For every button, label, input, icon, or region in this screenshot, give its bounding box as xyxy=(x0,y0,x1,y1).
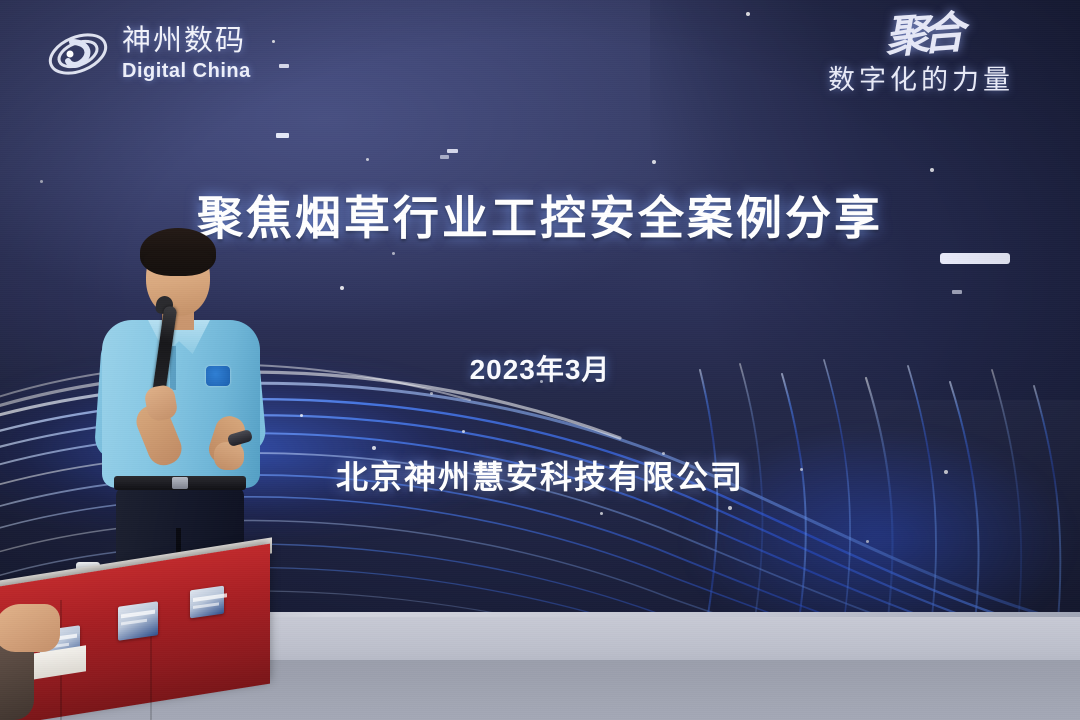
event-logo: 聚合 数字化的力量 xyxy=(786,16,1056,97)
event-tagline: 数字化的力量 xyxy=(786,58,1056,97)
particle-dot xyxy=(392,252,395,255)
particle-dot xyxy=(652,160,656,164)
particle-dot xyxy=(728,506,732,510)
particle-dot xyxy=(600,512,603,515)
particle-dot xyxy=(430,392,433,395)
digital-china-swirl-icon xyxy=(46,24,110,84)
particle-dot xyxy=(462,430,465,433)
particle-dash xyxy=(279,64,289,68)
particle-dash xyxy=(276,133,289,138)
photo-stage: 神州数码 Digital China 聚合 数字化的力量 聚焦烟草行业工控安全案… xyxy=(0,0,1080,720)
particle-dot xyxy=(746,12,750,16)
speaker-right-hand xyxy=(214,442,244,470)
particle-dot xyxy=(866,540,869,543)
particle-dash xyxy=(447,149,458,153)
speaker-hair xyxy=(140,228,216,276)
digital-china-name-en: Digital China xyxy=(122,61,251,81)
particle-dot xyxy=(300,414,303,417)
particle-dot xyxy=(340,286,344,290)
particle-dash xyxy=(440,155,449,159)
particle-dash xyxy=(952,290,962,294)
foreground-hand xyxy=(0,604,60,652)
digital-china-logo: 神州数码 Digital China xyxy=(46,24,251,84)
particle-dot xyxy=(372,446,376,450)
digital-china-name-cn: 神州数码 xyxy=(122,27,251,56)
name-card xyxy=(118,601,158,641)
name-card xyxy=(190,586,224,619)
shirt-chest-logo-icon xyxy=(206,366,230,386)
particle-dot xyxy=(366,158,369,161)
juhe-calligraphy-icon: 聚合 xyxy=(884,14,959,59)
particle-dot xyxy=(272,40,275,43)
speaker-belt-buckle xyxy=(172,477,188,489)
particle-dot xyxy=(930,168,934,172)
particle-dash xyxy=(940,253,1010,264)
